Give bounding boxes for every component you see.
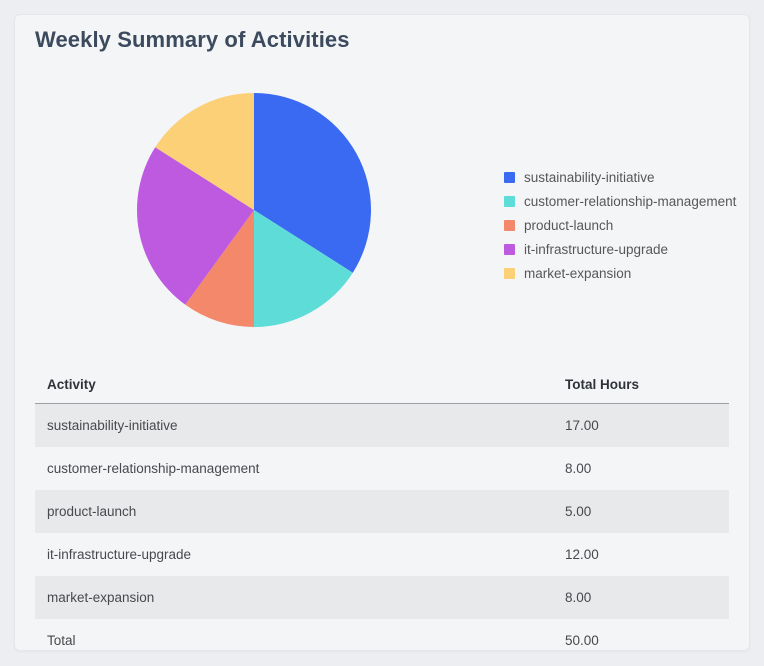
legend-item[interactable]: customer-relationship-management — [504, 189, 744, 213]
legend-swatch-icon — [504, 172, 515, 183]
table-row: customer-relationship-management8.00 — [35, 447, 729, 490]
table-row: market-expansion8.00 — [35, 576, 729, 619]
legend-item-label: customer-relationship-management — [524, 194, 736, 209]
legend-item-label: product-launch — [524, 218, 613, 233]
pie-chart-svg — [137, 93, 371, 327]
column-header-total-hours: Total Hours — [553, 367, 729, 404]
column-header-activity: Activity — [35, 367, 553, 404]
total-label: Total — [35, 619, 553, 662]
pie-chart — [137, 93, 371, 327]
table-header-row: Activity Total Hours — [35, 367, 729, 404]
legend-item[interactable]: market-expansion — [504, 261, 744, 285]
legend-item[interactable]: sustainability-initiative — [504, 165, 744, 189]
legend-swatch-icon — [504, 220, 515, 231]
table-body: sustainability-initiative17.00customer-r… — [35, 404, 729, 620]
cell-total-hours: 8.00 — [553, 576, 729, 619]
legend-item-label: it-infrastructure-upgrade — [524, 242, 668, 257]
summary-table-wrap: Activity Total Hours sustainability-init… — [35, 367, 729, 662]
table-footer: Total 50.00 — [35, 619, 729, 662]
table-row: sustainability-initiative17.00 — [35, 404, 729, 448]
cell-total-hours: 12.00 — [553, 533, 729, 576]
cell-activity: sustainability-initiative — [35, 404, 553, 448]
legend-item-label: sustainability-initiative — [524, 170, 655, 185]
summary-table: Activity Total Hours sustainability-init… — [35, 367, 729, 662]
table-row: it-infrastructure-upgrade12.00 — [35, 533, 729, 576]
chart-region: sustainability-initiativecustomer-relati… — [15, 77, 749, 357]
table-header: Activity Total Hours — [35, 367, 729, 404]
cell-activity: market-expansion — [35, 576, 553, 619]
table-row: product-launch5.00 — [35, 490, 729, 533]
summary-card: Weekly Summary of Activities sustainabil… — [14, 14, 750, 651]
legend-item[interactable]: product-launch — [504, 213, 744, 237]
legend-swatch-icon — [504, 196, 515, 207]
legend-item-label: market-expansion — [524, 266, 631, 281]
cell-activity: customer-relationship-management — [35, 447, 553, 490]
cell-activity: product-launch — [35, 490, 553, 533]
table-total-row: Total 50.00 — [35, 619, 729, 662]
legend-swatch-icon — [504, 268, 515, 279]
chart-legend: sustainability-initiativecustomer-relati… — [504, 165, 744, 285]
cell-activity: it-infrastructure-upgrade — [35, 533, 553, 576]
page-title: Weekly Summary of Activities — [35, 27, 350, 53]
pie-slice-group — [137, 93, 371, 327]
legend-swatch-icon — [504, 244, 515, 255]
cell-total-hours: 5.00 — [553, 490, 729, 533]
total-hours: 50.00 — [553, 619, 729, 662]
legend-item[interactable]: it-infrastructure-upgrade — [504, 237, 744, 261]
cell-total-hours: 8.00 — [553, 447, 729, 490]
cell-total-hours: 17.00 — [553, 404, 729, 448]
